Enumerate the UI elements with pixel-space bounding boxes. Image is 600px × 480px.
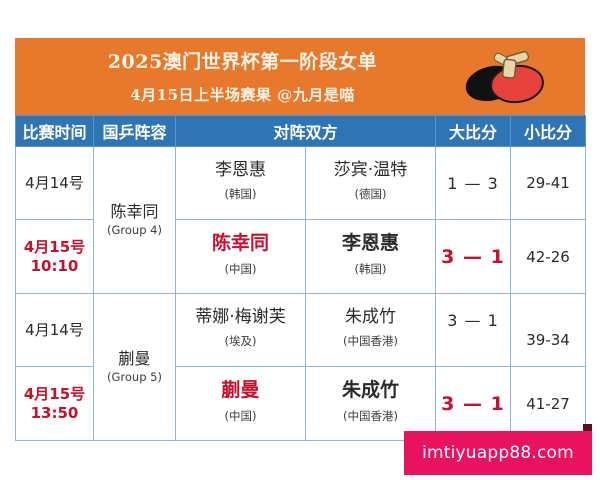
cell-big-score: 3 — 1 bbox=[436, 294, 511, 367]
big-score: 1 — 3 bbox=[437, 174, 509, 193]
table-row: 4月14号 蒯曼 (Group 5) 蒂娜·梅谢芙 (埃及) 朱成竹 (中国香港… bbox=[16, 294, 586, 367]
big-score: 3 — 1 bbox=[437, 246, 509, 268]
column-header-time: 比赛时间 bbox=[16, 116, 94, 147]
right-player-country: (德国) bbox=[307, 182, 434, 207]
table-row: 4月14号 陈幸同 (Group 4) 李恩惠 (韩国) 莎宾·温特 (德国) … bbox=[16, 147, 586, 220]
column-header-matchup: 对阵双方 bbox=[176, 116, 436, 147]
cell-small-score: 29-41 bbox=[511, 147, 586, 220]
small-score: 42-26 bbox=[512, 248, 584, 266]
lineup-player-name: 陈幸同 bbox=[95, 202, 174, 223]
small-score: 39-34 bbox=[512, 331, 584, 349]
cell-time: 4月15号 13:50 bbox=[16, 367, 94, 441]
page-root: 2025澳门世界杯第一阶段女单 4月15日上半场赛果 @九月是喵 bbox=[0, 0, 600, 480]
cell-right-player: 莎宾·温特 (德国) bbox=[306, 147, 436, 220]
right-player-name: 朱成竹 bbox=[307, 378, 434, 404]
left-player-country: (埃及) bbox=[177, 329, 304, 354]
cell-left-player: 李恩惠 (韩国) bbox=[176, 147, 306, 220]
small-score: 41-27 bbox=[512, 395, 584, 413]
cell-big-score: 1 — 3 bbox=[436, 147, 511, 220]
left-player-country: (中国) bbox=[177, 257, 304, 282]
match-time: 4月15号 bbox=[17, 238, 92, 257]
left-player-country: (韩国) bbox=[177, 182, 304, 207]
cell-lineup: 蒯曼 (Group 5) bbox=[94, 294, 176, 441]
cell-big-score: 3 — 1 bbox=[436, 367, 511, 441]
right-player-country: (中国香港) bbox=[307, 329, 434, 354]
left-player-country: (中国) bbox=[177, 404, 304, 429]
cell-left-player: 蒯曼 (中国) bbox=[176, 367, 306, 441]
match-time: 4月14号 bbox=[17, 321, 92, 340]
match-time-clock: 10:10 bbox=[17, 257, 92, 276]
lineup-group-label: (Group 5) bbox=[95, 369, 174, 385]
match-time: 4月15号 bbox=[17, 385, 92, 404]
cell-small-score: 39-34 bbox=[511, 294, 586, 367]
results-table: 比赛时间 国乒阵容 对阵双方 大比分 小比分 4月14号 陈幸同 (Group … bbox=[15, 115, 586, 441]
right-player-name: 莎宾·温特 bbox=[307, 159, 434, 182]
watermark-banner: imtiyuapp88.com bbox=[404, 431, 592, 475]
big-score: 3 — 1 bbox=[437, 311, 509, 330]
cell-right-player: 朱成竹 (中国香港) bbox=[306, 294, 436, 367]
title-banner: 2025澳门世界杯第一阶段女单 4月15日上半场赛果 @九月是喵 bbox=[15, 38, 585, 115]
left-player-name: 陈幸同 bbox=[177, 231, 304, 257]
cell-left-player: 陈幸同 (中国) bbox=[176, 220, 306, 294]
right-player-country: (韩国) bbox=[307, 257, 434, 282]
cell-small-score: 41-27 bbox=[511, 367, 586, 441]
cell-big-score: 3 — 1 bbox=[436, 220, 511, 294]
cell-time: 4月14号 bbox=[16, 294, 94, 367]
column-header-small-score: 小比分 bbox=[511, 116, 586, 147]
page-title: 2025澳门世界杯第一阶段女单 bbox=[15, 47, 470, 74]
cell-left-player: 蒂娜·梅谢芙 (埃及) bbox=[176, 294, 306, 367]
cell-right-player: 李恩惠 (韩国) bbox=[306, 220, 436, 294]
big-score: 3 — 1 bbox=[437, 393, 509, 415]
table-header-row: 比赛时间 国乒阵容 对阵双方 大比分 小比分 bbox=[16, 116, 586, 147]
column-header-lineup: 国乒阵容 bbox=[94, 116, 176, 147]
left-player-name: 蒯曼 bbox=[177, 378, 304, 404]
right-player-name: 朱成竹 bbox=[307, 306, 434, 329]
right-player-country: (中国香港) bbox=[307, 404, 434, 429]
page-subtitle: 4月15日上半场赛果 @九月是喵 bbox=[15, 84, 470, 105]
right-player-name: 李恩惠 bbox=[307, 231, 434, 257]
cell-small-score: 42-26 bbox=[511, 220, 586, 294]
left-player-name: 李恩惠 bbox=[177, 159, 304, 182]
small-score: 29-41 bbox=[512, 174, 584, 192]
cell-time: 4月15号 10:10 bbox=[16, 220, 94, 294]
column-header-big-score: 大比分 bbox=[436, 116, 511, 147]
cell-time: 4月14号 bbox=[16, 147, 94, 220]
left-player-name: 蒂娜·梅谢芙 bbox=[177, 306, 304, 329]
cell-lineup: 陈幸同 (Group 4) bbox=[94, 147, 176, 294]
lineup-player-name: 蒯曼 bbox=[95, 349, 174, 370]
lineup-group-label: (Group 4) bbox=[95, 222, 174, 238]
match-time-clock: 13:50 bbox=[17, 404, 92, 423]
ping-pong-paddles-icon bbox=[453, 46, 573, 108]
cell-right-player: 朱成竹 (中国香港) bbox=[306, 367, 436, 441]
match-time: 4月14号 bbox=[17, 174, 92, 193]
